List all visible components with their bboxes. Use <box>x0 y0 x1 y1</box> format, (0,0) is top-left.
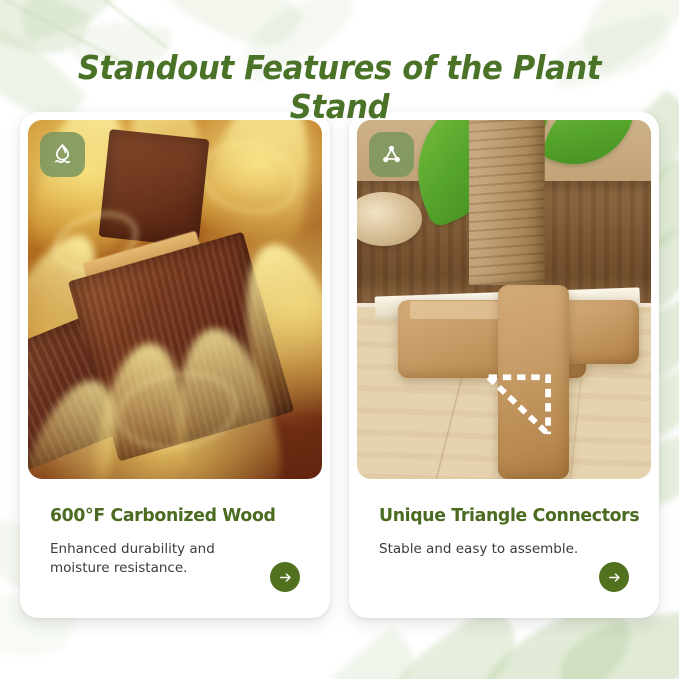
feature-card-body: Unique Triangle Connectors Stable and ea… <box>357 479 651 618</box>
water-droplet-moisture-icon <box>40 132 85 177</box>
feature-description: Enhanced durability and moisture resista… <box>50 540 260 577</box>
feature-card-body: 600°F Carbonized Wood Enhanced durabilit… <box>28 479 322 618</box>
feature-card-carbonized-wood[interactable]: 600°F Carbonized Wood Enhanced durabilit… <box>20 112 330 618</box>
connector-right-arm <box>557 300 639 365</box>
arrow-right-icon <box>278 570 293 585</box>
leaf-stem-decoration <box>72 0 168 50</box>
leaf-decoration <box>12 0 128 43</box>
dashed-triangle-highlight <box>486 368 551 443</box>
triangle-connector-nodes-icon <box>369 132 414 177</box>
feature-title: 600°F Carbonized Wood <box>50 505 290 526</box>
leaf-decoration <box>285 625 433 679</box>
arrow-right-icon <box>607 570 622 585</box>
feature-image-burning-wood <box>28 120 322 479</box>
page-title: Standout Features of the Plant Stand <box>24 48 655 126</box>
feature-description: Stable and easy to assemble. <box>379 540 589 559</box>
feature-card-grid: 600°F Carbonized Wood Enhanced durabilit… <box>20 112 659 618</box>
wooden-post <box>469 120 545 285</box>
feature-title: Unique Triangle Connectors <box>379 505 619 526</box>
arrow-right-button[interactable] <box>599 562 629 592</box>
feature-card-triangle-connectors[interactable]: Unique Triangle Connectors Stable and ea… <box>349 112 659 618</box>
feature-image-triangle-connector <box>357 120 651 479</box>
leaf-decoration <box>554 609 679 679</box>
connector-notch <box>410 301 504 319</box>
arrow-right-button[interactable] <box>270 562 300 592</box>
